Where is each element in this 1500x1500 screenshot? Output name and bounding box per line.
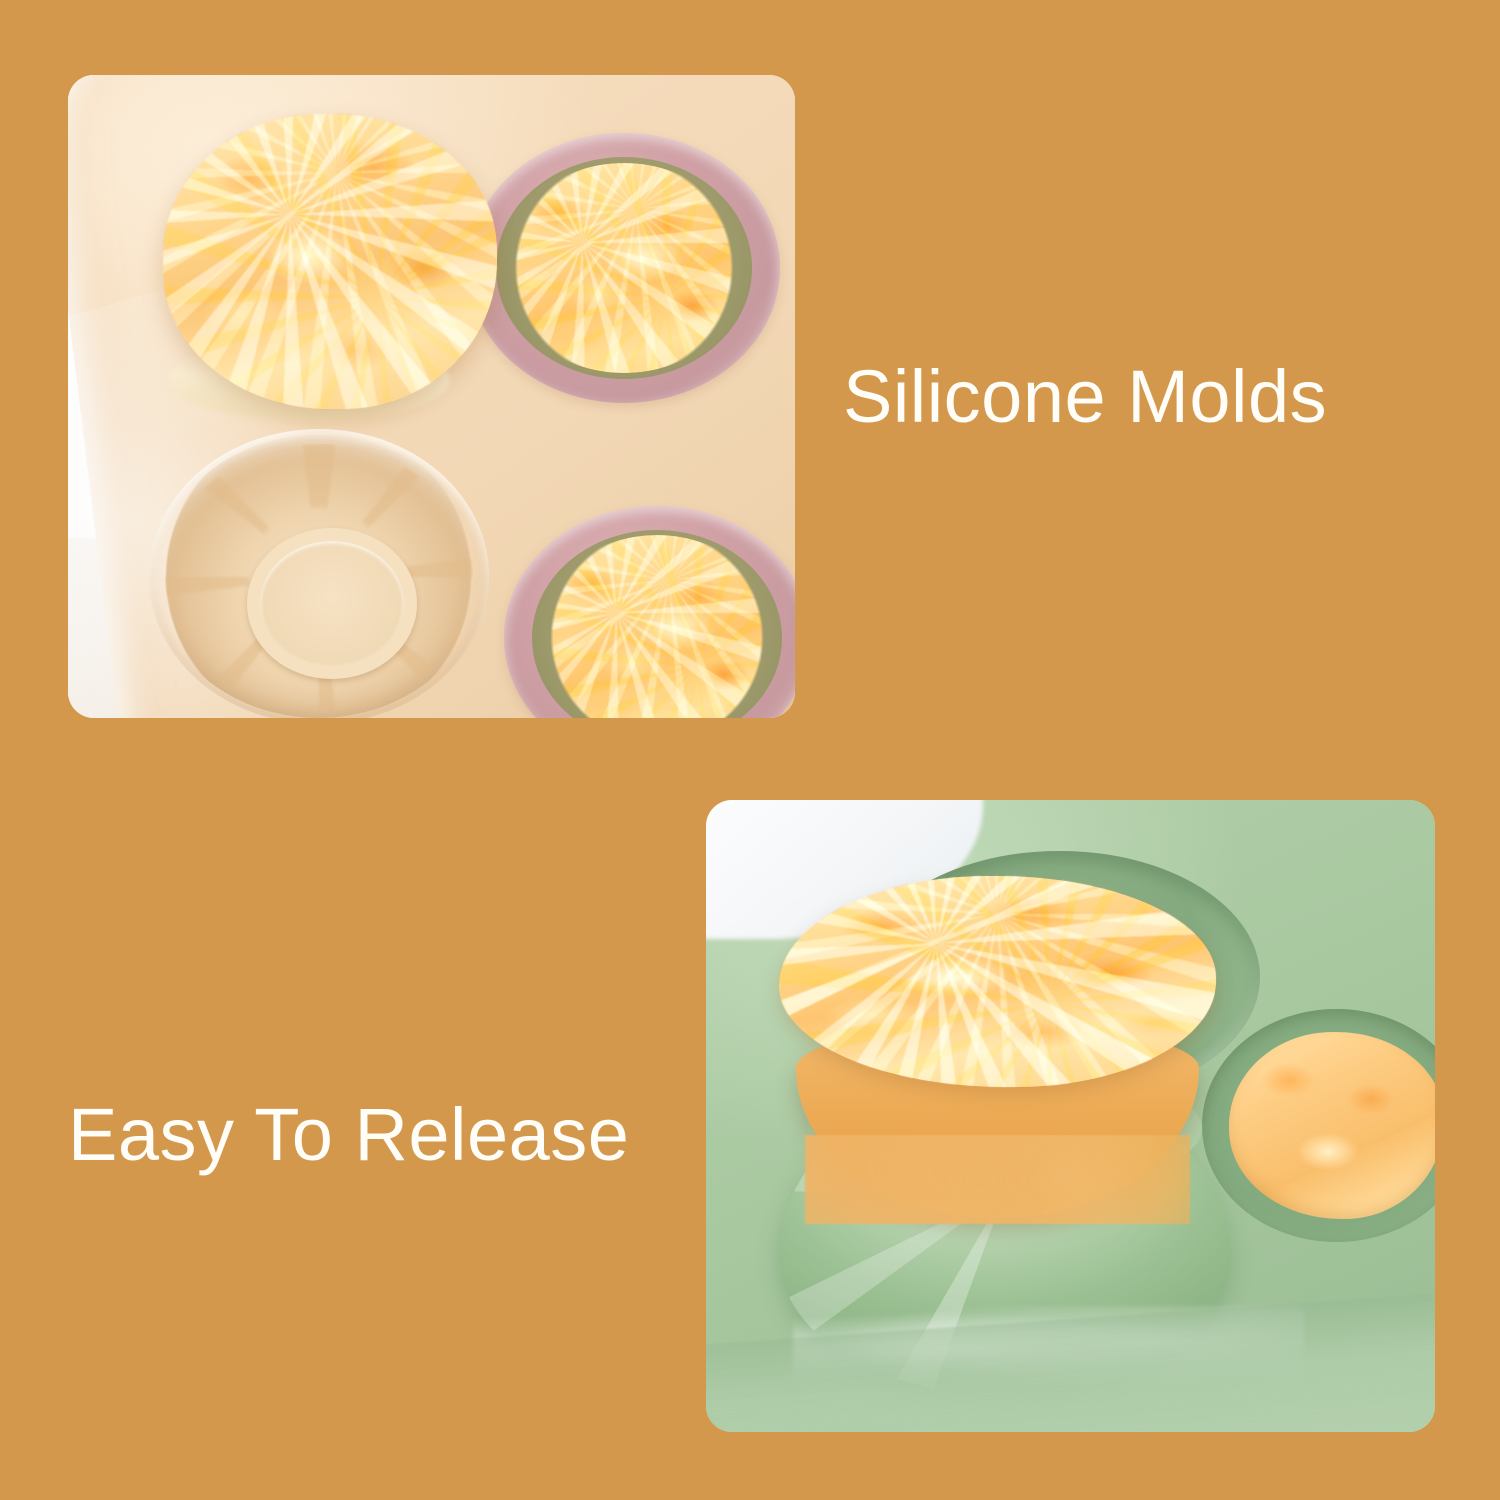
patty-scalloped-base <box>805 1135 1190 1224</box>
filled-cavity-lower-right <box>504 506 795 718</box>
bottom-right-photo-scene <box>706 800 1435 1432</box>
headline-silicone-molds: Silicone Molds <box>843 360 1327 434</box>
patty-surface <box>163 114 497 410</box>
bottom-right-photo <box>706 800 1435 1432</box>
food-patty-in-cavity <box>538 535 776 718</box>
empty-flower-cavity <box>155 435 482 718</box>
headline-easy-to-release: Easy To Release <box>68 1098 629 1172</box>
cavity-rim-highlight <box>149 429 489 718</box>
top-left-photo <box>68 75 795 718</box>
filled-cavity-upper-right <box>468 133 781 403</box>
loose-food-patty <box>163 114 497 410</box>
top-left-photo-scene <box>68 75 795 718</box>
food-patty-in-cavity <box>502 163 746 374</box>
released-food-patty <box>779 876 1216 1217</box>
food-patty-in-cavity <box>1229 1032 1435 1219</box>
patty-top-surface <box>779 876 1216 1088</box>
product-image-canvas: Silicone Molds Easy To Release <box>0 0 1500 1500</box>
